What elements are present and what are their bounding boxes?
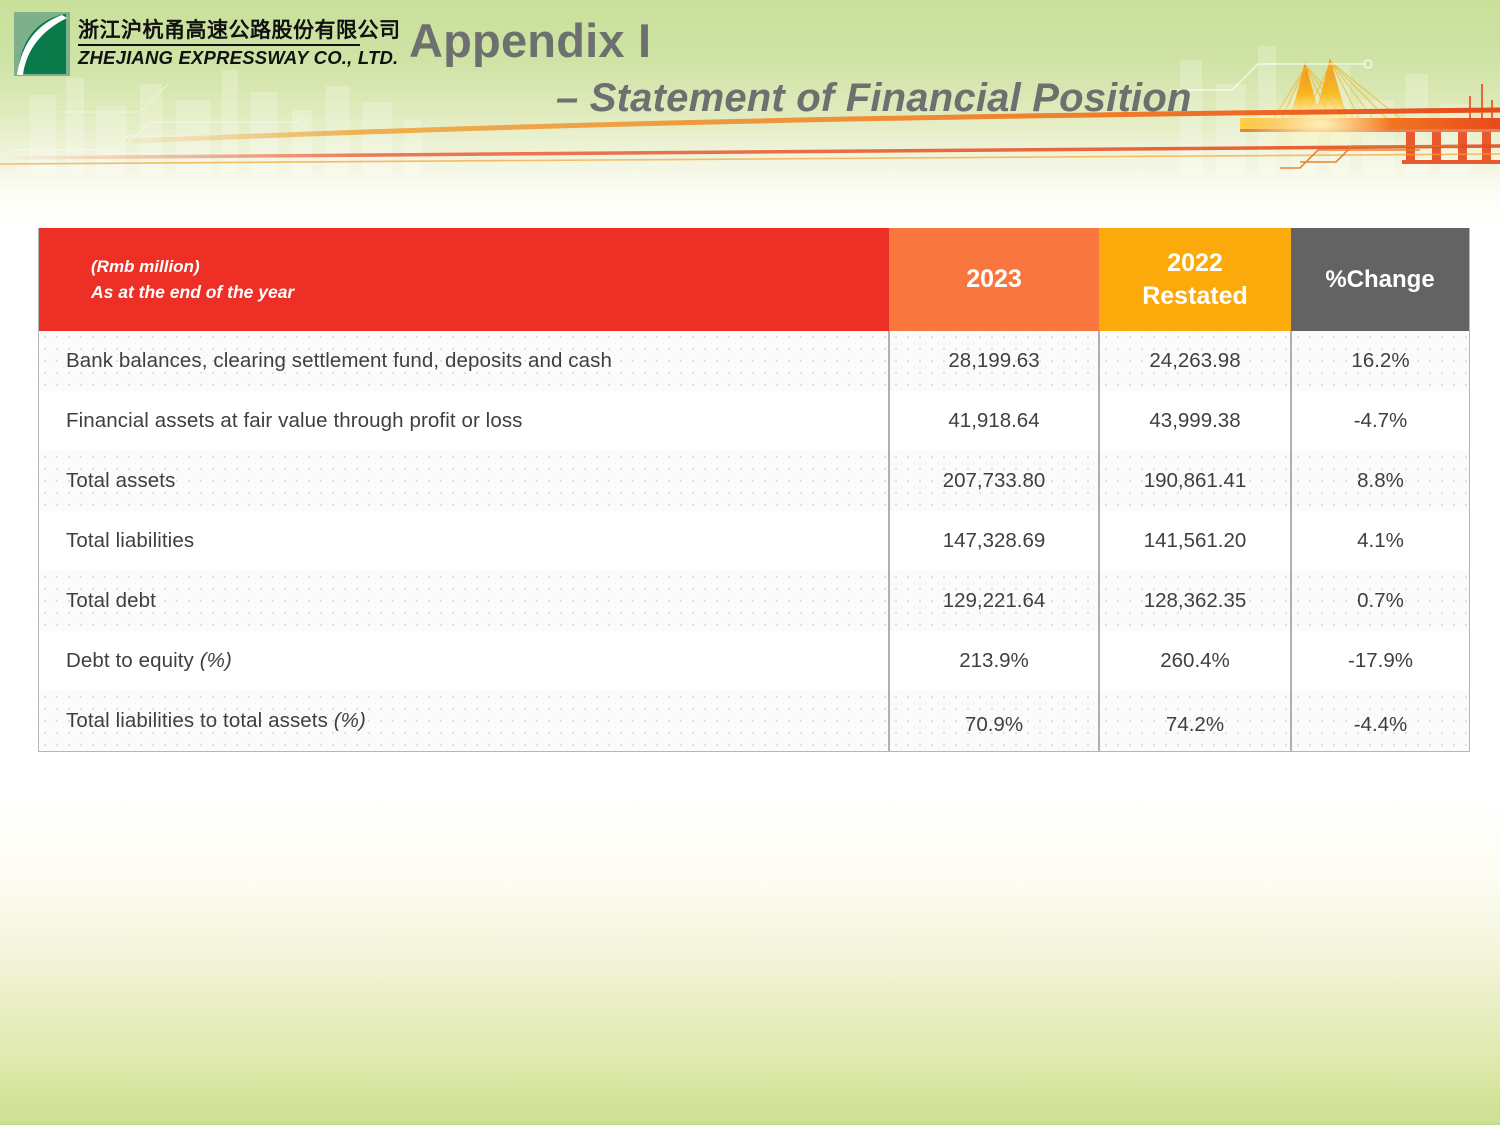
company-name-en: ZHEJIANG EXPRESSWAY CO., LTD. bbox=[78, 49, 378, 68]
row-value-2022: 24,263.98 bbox=[1099, 331, 1291, 391]
table-header-row: (Rmb million) As at the end of the year … bbox=[39, 228, 1469, 331]
row-value-2022: 43,999.38 bbox=[1099, 391, 1291, 451]
row-value-2022: 128,362.35 bbox=[1099, 571, 1291, 631]
financial-position-table: (Rmb million) As at the end of the year … bbox=[38, 228, 1470, 752]
unit-note: (Rmb million) bbox=[91, 254, 889, 280]
row-value-2023: 213.9% bbox=[889, 631, 1099, 691]
company-name: 浙江沪杭甬高速公路股份有限公司 ZHEJIANG EXPRESSWAY CO.,… bbox=[78, 20, 378, 68]
header-2022-restated: Restated bbox=[1099, 280, 1291, 313]
row-value-change: 16.2% bbox=[1291, 331, 1469, 391]
table-row: Financial assets at fair value through p… bbox=[39, 391, 1469, 451]
table-row: Total liabilities 147,328.69 141,561.20 … bbox=[39, 511, 1469, 571]
row-value-2023: 28,199.63 bbox=[889, 331, 1099, 391]
row-value-2023: 207,733.80 bbox=[889, 451, 1099, 511]
row-value-2023: 147,328.69 bbox=[889, 511, 1099, 571]
row-label: Total debt bbox=[39, 571, 889, 631]
table-row: Debt to equity (%) 213.9% 260.4% -17.9% bbox=[39, 631, 1469, 691]
row-value-change: 8.8% bbox=[1291, 451, 1469, 511]
row-value-2023: 41,918.64 bbox=[889, 391, 1099, 451]
table-body: Bank balances, clearing settlement fund,… bbox=[39, 331, 1469, 751]
row-label: Debt to equity (%) bbox=[39, 631, 889, 691]
row-value-2022: 141,561.20 bbox=[1099, 511, 1291, 571]
row-value-2022: 190,861.41 bbox=[1099, 451, 1291, 511]
bridge-graphic bbox=[1170, 0, 1500, 175]
row-value-change: -4.4% bbox=[1291, 691, 1469, 751]
row-label: Financial assets at fair value through p… bbox=[39, 391, 889, 451]
row-value-2023: 70.9% bbox=[889, 691, 1099, 751]
period-note: As at the end of the year bbox=[91, 280, 889, 305]
header-cell-2023: 2023 bbox=[889, 228, 1099, 331]
company-name-cn: 浙江沪杭甬高速公路股份有限公司 bbox=[78, 20, 378, 41]
row-value-2023: 129,221.64 bbox=[889, 571, 1099, 631]
row-value-change: 0.7% bbox=[1291, 571, 1469, 631]
row-value-change: 4.1% bbox=[1291, 511, 1469, 571]
row-label: Total liabilities to total assets (%) bbox=[39, 691, 889, 751]
row-value-2022: 260.4% bbox=[1099, 631, 1291, 691]
company-logo-icon bbox=[14, 12, 70, 76]
logo-divider bbox=[78, 44, 360, 46]
table-row: Total debt 129,221.64 128,362.35 0.7% bbox=[39, 571, 1469, 631]
row-label: Total liabilities bbox=[39, 511, 889, 571]
header-cell-label: (Rmb million) As at the end of the year bbox=[39, 228, 889, 331]
row-value-change: -4.7% bbox=[1291, 391, 1469, 451]
table-row: Bank balances, clearing settlement fund,… bbox=[39, 331, 1469, 391]
row-value-2022: 74.2% bbox=[1099, 691, 1291, 751]
row-label: Bank balances, clearing settlement fund,… bbox=[39, 331, 889, 391]
page-title: Appendix I bbox=[409, 13, 651, 68]
header-2022-year: 2022 bbox=[1099, 247, 1291, 280]
row-label: Total assets bbox=[39, 451, 889, 511]
table-row: Total assets 207,733.80 190,861.41 8.8% bbox=[39, 451, 1469, 511]
header-cell-change: %Change bbox=[1291, 228, 1469, 331]
header-cell-2022-restated: 2022 Restated bbox=[1099, 228, 1291, 331]
row-value-change: -17.9% bbox=[1291, 631, 1469, 691]
table-row: Total liabilities to total assets (%) 70… bbox=[39, 691, 1469, 751]
page-subtitle: – Statement of Financial Position bbox=[556, 76, 1192, 121]
